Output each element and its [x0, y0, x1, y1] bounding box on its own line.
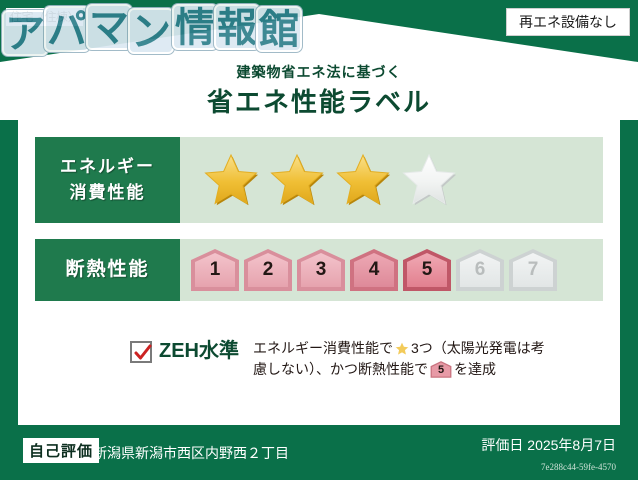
- insulation-grade-scale: 1234567: [180, 248, 558, 292]
- star-icon-filled: [334, 152, 392, 208]
- energy-performance-label-box: エネルギー 消費性能: [35, 137, 180, 223]
- energy-performance-label: 住宅（住棟） 再エネ設備なし 建築物省エネ法に基づく 省エネ性能ラベル エネルギ…: [0, 0, 638, 480]
- star-rating: [180, 152, 458, 208]
- zeh-label: ZEH水準: [159, 338, 239, 365]
- self-evaluation-badge: 自己評価: [22, 437, 100, 464]
- insulation-grade-value: 2: [263, 239, 274, 292]
- label-subtitle: 建築物省エネ法に基づく: [0, 62, 638, 82]
- label-footer: 自己評価 新潟県新潟市西区内野西２丁目 評価日 2025年8月7日 7e288c…: [0, 425, 638, 480]
- zeh-desc-part2: 3つ（太陽光発電: [411, 340, 517, 356]
- star-icon-filled: [268, 152, 326, 208]
- insulation-grade-4: 4: [349, 248, 399, 292]
- insulation-grade-badge: 5: [430, 361, 452, 378]
- insulation-performance-row: 断熱性能 1234567: [35, 239, 603, 301]
- energy-performance-value: [180, 137, 603, 223]
- evaluation-date: 評価日 2025年8月7日: [481, 435, 616, 455]
- insulation-performance-value: 1234567: [180, 239, 603, 301]
- check-icon: [133, 343, 153, 363]
- insulation-grade-7: 7: [508, 248, 558, 292]
- zeh-desc-part1: エネルギー消費性能で: [253, 340, 393, 356]
- zeh-checkbox[interactable]: [130, 341, 152, 363]
- insulation-performance-label-box: 断熱性能: [35, 239, 180, 301]
- insulation-grade-value: 3: [316, 239, 327, 292]
- category-tag: 住宅（住棟）: [6, 8, 83, 26]
- insulation-grade-2: 2: [243, 248, 293, 292]
- evaluation-id: 7e288c44-59fe-4570: [541, 462, 616, 472]
- insulation-grade-3: 3: [296, 248, 346, 292]
- evaluation-date-label: 評価日: [481, 437, 523, 453]
- insulation-grade-1: 1: [190, 248, 240, 292]
- insulation-grade-value: 7: [528, 239, 539, 292]
- zeh-desc-part4: を達成: [454, 361, 496, 377]
- insulation-grade-value: 5: [422, 239, 433, 292]
- energy-performance-row: エネルギー 消費性能: [35, 137, 603, 223]
- insulation-grade-5: 5: [402, 248, 452, 292]
- star-icon-filled: [202, 152, 260, 208]
- insulation-grade-value: 1: [210, 239, 221, 292]
- insulation-label: 断熱性能: [65, 258, 149, 282]
- star-icon-empty: [400, 152, 458, 208]
- insulation-grade-value: 4: [369, 239, 380, 292]
- label-title: 省エネ性能ラベル: [0, 82, 638, 119]
- renewable-equipment-tag: 再エネ設備なし: [506, 8, 630, 36]
- energy-label-line1: エネルギー: [60, 154, 155, 180]
- evaluation-date-value: 2025年8月7日: [527, 437, 616, 453]
- zeh-description: エネルギー消費性能で3つ（太陽光発電は考慮しない）、かつ断熱性能で5を達成: [253, 338, 553, 380]
- property-address: 新潟県新潟市西区内野西２丁目: [93, 443, 289, 463]
- insulation-grade-value: 6: [475, 239, 486, 292]
- insulation-grade-badge-value: 5: [430, 361, 452, 378]
- insulation-grade-6: 6: [455, 248, 505, 292]
- energy-label-line2: 消費性能: [70, 180, 146, 206]
- star-icon-inline: [394, 341, 410, 356]
- zeh-standard-block: ZEH水準 エネルギー消費性能で3つ（太陽光発電は考慮しない）、かつ断熱性能で5…: [130, 338, 553, 380]
